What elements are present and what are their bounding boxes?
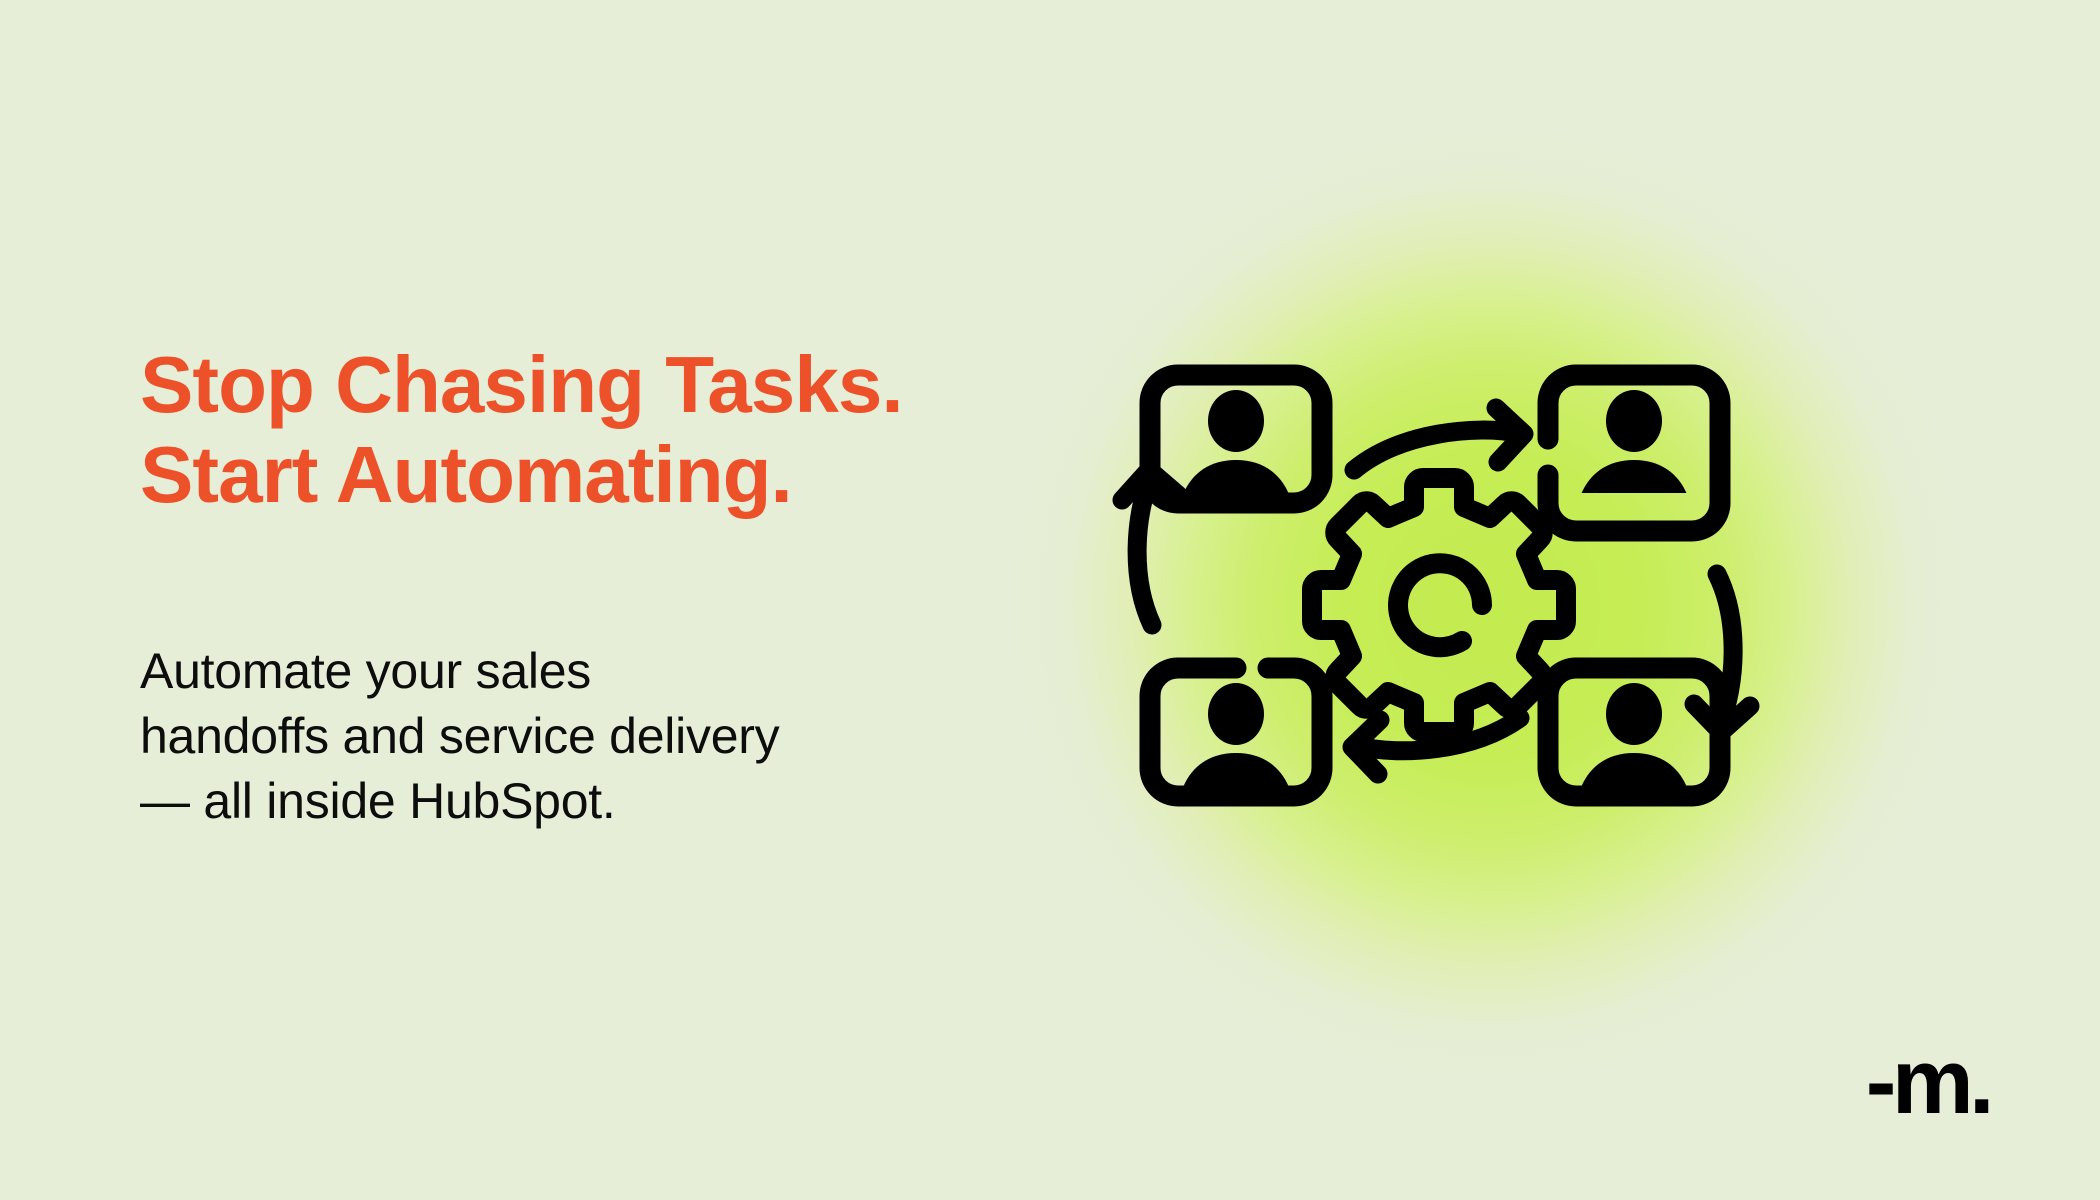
arrow-right-down-icon (1694, 574, 1750, 732)
copy-block: Stop Chasing Tasks. Start Automating. Au… (140, 340, 960, 834)
subheadline-text: Automate your sales handoffs and service… (140, 639, 960, 834)
page-title: Stop Chasing Tasks. Start Automating. (140, 340, 960, 521)
brand-logo: -m. (1866, 1036, 1990, 1128)
person-card-icon-top-left (1150, 375, 1322, 552)
arrow-top-right-icon (1354, 408, 1524, 470)
slide-canvas: Stop Chasing Tasks. Start Automating. Au… (0, 0, 2100, 1200)
automation-cycle-illustration (1100, 320, 1800, 850)
person-glyph (1172, 390, 1300, 552)
gear-icon (1312, 478, 1566, 732)
person-card-icon-top-right (1548, 375, 1720, 552)
person-glyph (1570, 683, 1698, 845)
arrow-left-up-icon (1122, 470, 1178, 625)
person-glyph (1172, 683, 1300, 845)
person-card-icon-bottom-left (1150, 668, 1322, 845)
